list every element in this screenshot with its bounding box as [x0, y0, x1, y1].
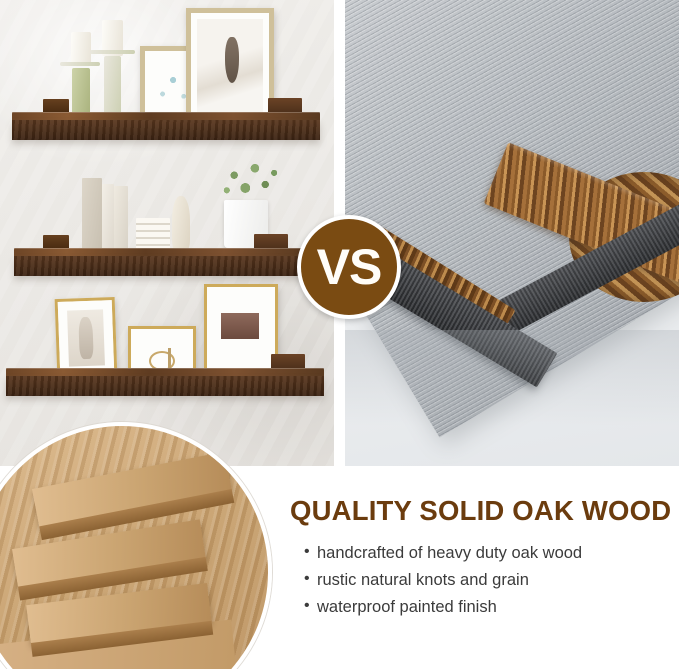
- candle-tray: [90, 50, 135, 54]
- board-drop-shadow: [345, 330, 679, 466]
- feature-bullet: rustic natural knots and grain: [304, 567, 676, 594]
- candle-holder-green: [72, 68, 90, 114]
- picture-frame-fashion: [186, 8, 274, 128]
- candle-holder-white: [104, 56, 121, 114]
- versus-badge: VS: [297, 215, 401, 319]
- plant-foliage: [212, 152, 286, 210]
- shelf-front-face: [14, 256, 306, 276]
- candle-tray-2: [60, 62, 100, 66]
- feature-heading: QUALITY SOLID OAK WOOD: [290, 496, 676, 526]
- oak-lumber-circle: [0, 422, 272, 669]
- comparison-photo-strip: VS: [0, 0, 679, 466]
- shelf-front-face: [12, 120, 320, 140]
- shelf-front-face: [6, 376, 324, 396]
- picture-frame-portrait: [55, 297, 118, 379]
- book-2: [102, 184, 114, 250]
- picture-frame-group-photo: [204, 284, 278, 378]
- feature-section: QUALITY SOLID OAK WOOD handcrafted of he…: [0, 466, 679, 669]
- ceramic-sculpture: [172, 196, 190, 250]
- feature-copy-block: QUALITY SOLID OAK WOOD handcrafted of he…: [290, 496, 676, 620]
- versus-label: VS: [317, 242, 382, 292]
- group-photo-artwork: [221, 313, 259, 339]
- product-comparison-infographic: VS QUALITY SOLID OAK WOOD handcrafted of…: [0, 0, 679, 669]
- solid-oak-shelves-photo: [0, 0, 334, 466]
- book-1: [82, 178, 102, 250]
- feature-bullet-list: handcrafted of heavy duty oak wood rusti…: [290, 540, 676, 620]
- particle-board-photo: [345, 0, 679, 466]
- book-3: [114, 186, 128, 250]
- floating-shelf-top: [12, 112, 320, 142]
- floating-shelf-middle: [14, 248, 306, 278]
- feature-bullet: handcrafted of heavy duty oak wood: [304, 540, 676, 567]
- floating-shelf-bottom: [6, 368, 324, 400]
- portrait-artwork: [67, 309, 105, 366]
- feature-bullet: waterproof painted finish: [304, 594, 676, 621]
- book-stack-riser: [136, 218, 170, 250]
- pillar-candle-1: [71, 32, 91, 66]
- fashion-artwork: [197, 19, 263, 117]
